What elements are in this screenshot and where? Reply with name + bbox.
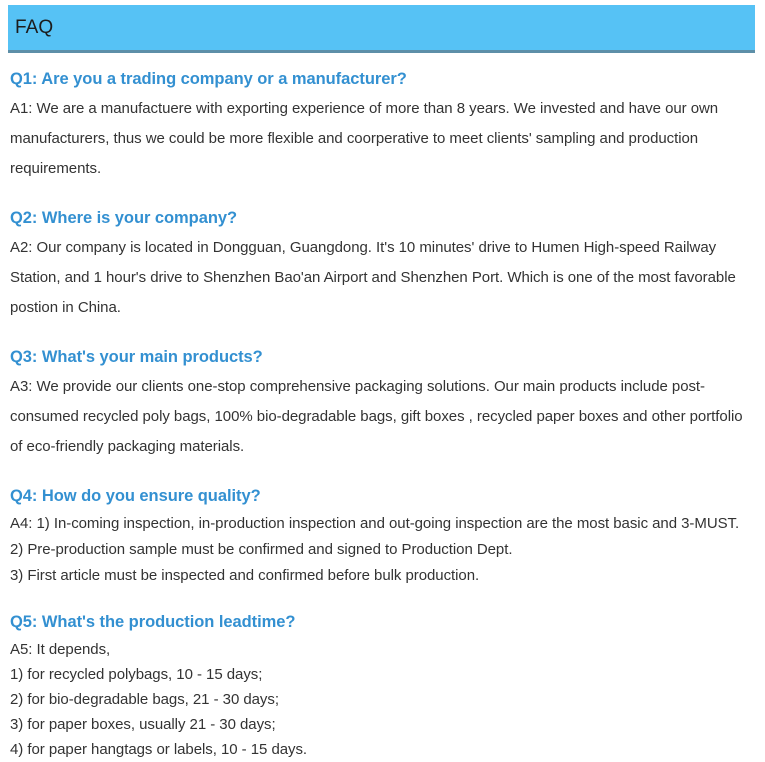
page-title: FAQ — [8, 18, 53, 38]
faq-item-q1: Q1: Are you a trading company or a manuf… — [10, 68, 755, 184]
faq-item-q2: Q2: Where is your company? A2: Our compa… — [10, 207, 755, 323]
faq-answer-line: 4) for paper hangtags or labels, 10 - 15… — [10, 737, 755, 762]
faq-question-q2: Q2: Where is your company? — [10, 207, 755, 229]
faq-answer-line: 3) First article must be inspected and c… — [10, 563, 755, 589]
faq-answer-line: 2) Pre-production sample must be confirm… — [10, 537, 755, 563]
faq-question-q4: Q4: How do you ensure quality? — [10, 485, 755, 507]
faq-answer-q4: A4: 1) In-coming inspection, in-producti… — [10, 511, 755, 589]
faq-answer-line: 2) for bio-degradable bags, 21 - 30 days… — [10, 687, 755, 712]
faq-banner: FAQ — [8, 5, 755, 53]
faq-question-q5: Q5: What's the production leadtime? — [10, 611, 755, 633]
faq-answer-q5: A5: It depends, 1) for recycled polybags… — [10, 637, 755, 762]
faq-item-q4: Q4: How do you ensure quality? A4: 1) In… — [10, 485, 755, 589]
faq-question-q3: Q3: What's your main products? — [10, 346, 755, 368]
faq-item-q5: Q5: What's the production leadtime? A5: … — [10, 611, 755, 762]
faq-content: Q1: Are you a trading company or a manuf… — [10, 68, 755, 762]
faq-answer-line: A4: 1) In-coming inspection, in-producti… — [10, 511, 755, 537]
faq-page: FAQ Q1: Are you a trading company or a m… — [0, 0, 765, 748]
faq-answer-line: 1) for recycled polybags, 10 - 15 days; — [10, 662, 755, 687]
faq-answer-line: A5: It depends, — [10, 637, 755, 662]
faq-answer-q3: A3: We provide our clients one-stop comp… — [10, 372, 755, 462]
faq-item-q3: Q3: What's your main products? A3: We pr… — [10, 346, 755, 462]
faq-answer-line: 3) for paper boxes, usually 21 - 30 days… — [10, 712, 755, 737]
faq-answer-q1: A1: We are a manufactuere with exporting… — [10, 94, 755, 184]
faq-answer-q2: A2: Our company is located in Dongguan, … — [10, 233, 755, 323]
faq-question-q1: Q1: Are you a trading company or a manuf… — [10, 68, 755, 90]
